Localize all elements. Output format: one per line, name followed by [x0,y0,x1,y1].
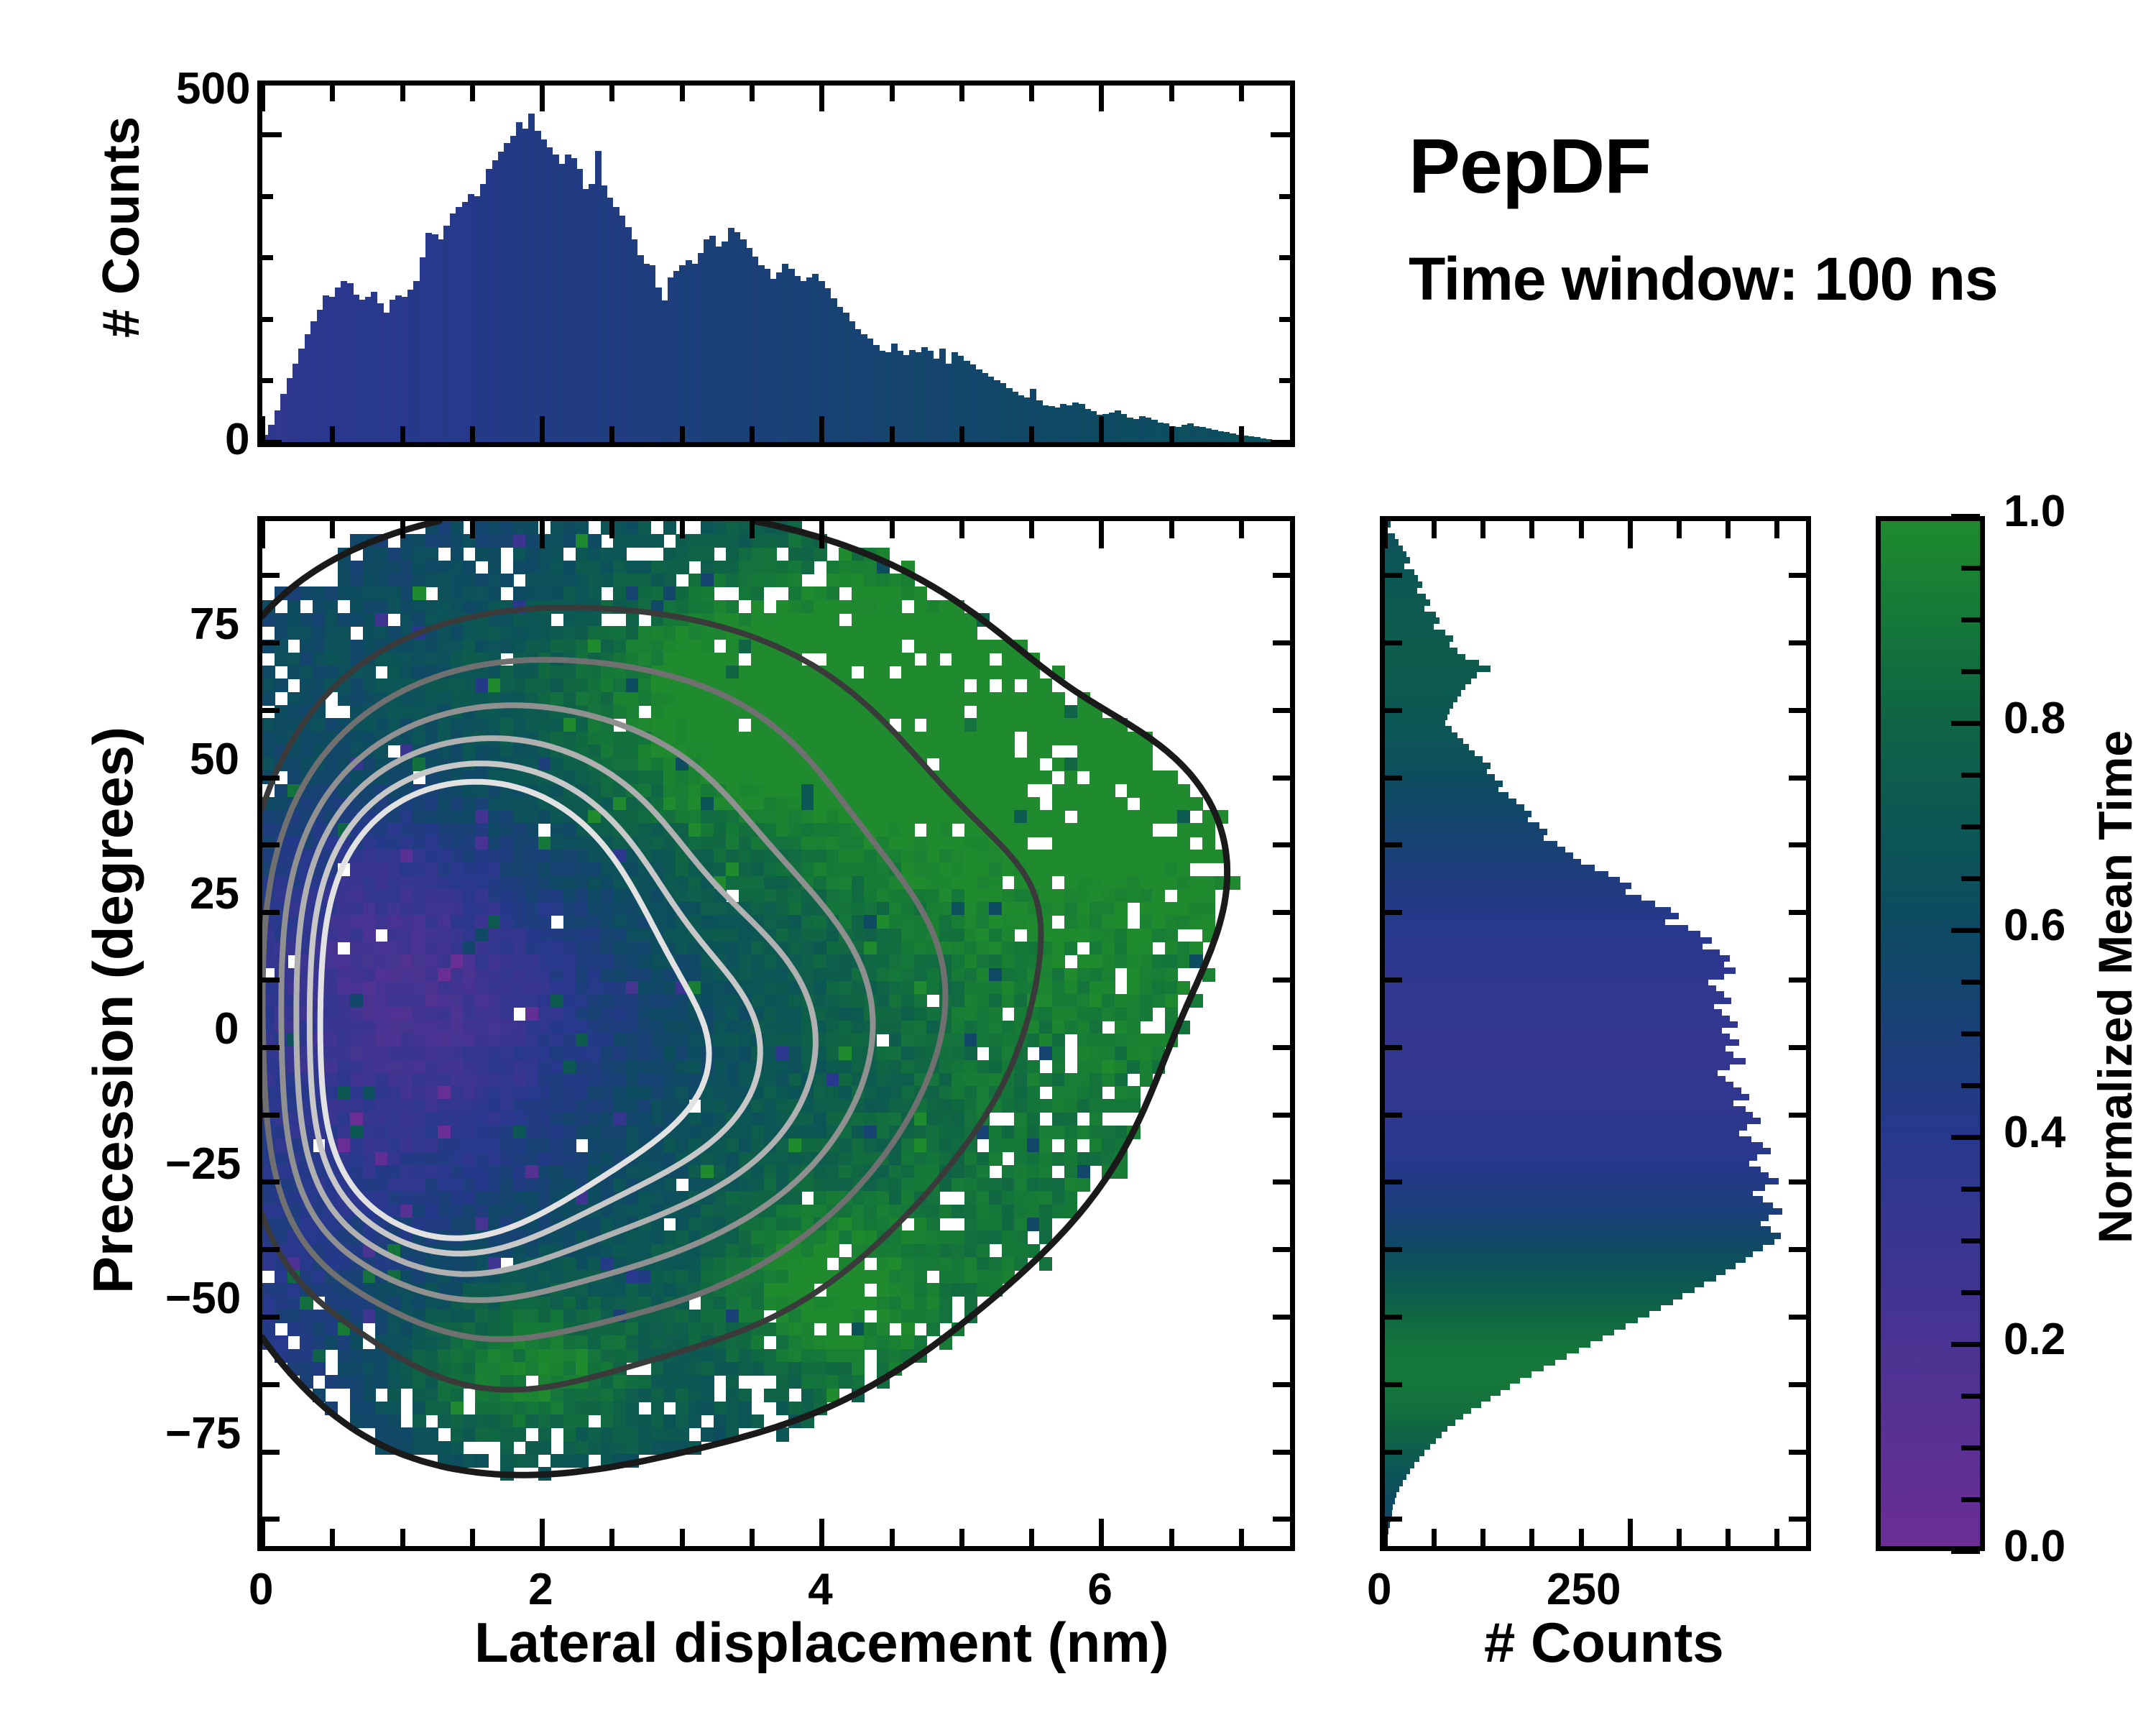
axis-tick [1169,521,1174,538]
axis-tick [1961,824,1980,829]
right-hist-xtick-250: 250 [1547,1564,1621,1615]
axis-tick [262,1179,280,1184]
axis-tick [609,521,614,538]
axis-tick [1432,1529,1437,1546]
main-xtick-label: 0 [249,1564,273,1615]
axis-tick [257,194,273,199]
axis-tick [1789,1113,1806,1118]
axis-tick [1385,1045,1402,1050]
axis-tick [1579,1529,1584,1546]
axis-tick [1273,1113,1290,1118]
top-histogram-bars [262,86,1290,442]
axis-tick [1385,640,1402,645]
right-histogram-bars [1385,521,1806,1546]
axis-tick [1789,1450,1806,1455]
axis-tick [260,86,265,111]
axis-tick [540,86,545,111]
axis-tick [1099,521,1104,548]
main-xtick-label: 4 [808,1564,832,1615]
axis-tick [1789,1179,1806,1184]
axis-tick [609,426,614,442]
axis-tick [1628,521,1633,548]
axis-tick [1628,1519,1633,1546]
axis-tick [1273,1247,1290,1252]
axis-tick [262,910,280,915]
axis-tick [1279,378,1295,383]
axis-tick [1961,617,1980,622]
axis-tick [1029,86,1034,101]
axis-tick [1951,721,1980,726]
axis-tick [262,573,280,578]
axis-tick [1961,1238,1980,1243]
axis-tick [1385,910,1402,915]
axis-tick [1385,573,1402,578]
axis-tick [609,1529,614,1546]
axis-tick [1273,708,1290,713]
axis-tick [1385,977,1402,983]
axis-tick [330,86,335,101]
axis-tick [1273,776,1290,781]
axis-tick [1385,1247,1402,1252]
axis-tick [1385,1179,1402,1184]
axis-tick [1385,1517,1402,1522]
axis-tick [262,776,280,781]
axis-tick [1239,1529,1244,1546]
figure-canvas: PepDF Time window: 100 ns # Counts 500 0… [0,0,2156,1725]
axis-tick [1099,86,1104,111]
axis-tick [890,1529,895,1546]
axis-tick [819,1519,824,1546]
axis-tick [1961,1445,1980,1450]
axis-tick [540,416,545,442]
axis-tick [1169,1529,1174,1546]
axis-tick [257,317,273,322]
axis-tick [1383,1519,1388,1546]
axis-tick [1789,776,1806,781]
axis-tick [1961,1290,1980,1295]
main-xtick-label: 6 [1087,1564,1112,1615]
axis-tick [1961,876,1980,881]
axis-tick [1029,521,1034,538]
axis-tick [1239,521,1244,538]
axis-tick [470,86,475,101]
axis-tick [1029,1529,1034,1546]
axis-tick [1385,708,1402,713]
axis-tick [1273,1517,1290,1522]
axis-tick [1385,1382,1402,1387]
axis-tick [1789,708,1806,713]
axis-tick [1273,910,1290,915]
axis-tick [262,842,280,847]
main-ytick-label: −25 [165,1138,241,1190]
axis-tick [1029,426,1034,442]
axis-tick [1432,521,1437,538]
axis-tick [1273,842,1290,847]
axis-tick [1774,521,1779,538]
axis-tick [1789,1315,1806,1320]
main-ytick-label: −50 [165,1273,241,1324]
colorbar-tick-label: 0.2 [2004,1314,2065,1365]
axis-tick [959,1529,964,1546]
axis-tick [262,708,280,713]
axis-tick [1789,977,1806,983]
colorbar-tick-label: 0.8 [2004,693,2065,744]
axis-tick [1961,1187,1980,1192]
axis-tick [1961,980,1980,985]
axis-tick [1273,1315,1290,1320]
axis-tick [680,86,685,101]
top-hist-ylabel: # Counts [92,116,151,338]
axis-tick [1961,1031,1980,1036]
axis-tick [260,521,265,548]
axis-tick [1279,194,1295,199]
axis-tick [680,426,685,442]
axis-tick [262,1247,280,1252]
main-ylabel: Precession (degrees) [80,727,146,1294]
axis-tick [750,1529,755,1546]
axis-tick [819,521,824,548]
axis-tick [1279,317,1295,322]
axis-tick [262,977,280,983]
axis-tick [1951,1549,1980,1554]
axis-tick [1529,521,1534,538]
axis-tick [1961,1394,1980,1399]
axis-tick [1789,573,1806,578]
axis-tick [400,521,405,538]
axis-tick [1480,1529,1485,1546]
subtitle-time-window: Time window: 100 ns [1409,244,1998,314]
axis-tick [470,521,475,538]
axis-tick [1951,514,1980,519]
axis-tick [1480,521,1485,538]
axis-tick [680,1529,685,1546]
axis-tick [1726,1529,1731,1546]
colorbar-label: Normalized Mean Time [2088,730,2142,1243]
axis-tick [1273,1382,1290,1387]
axis-tick [1726,521,1731,538]
axis-tick [1385,1315,1402,1320]
axis-tick [1239,86,1244,101]
axis-tick [1271,132,1295,137]
axis-tick [1279,255,1295,260]
main-ytick-label: 75 [190,599,239,650]
colorbar-tick-label: 0.0 [2004,1521,2065,1572]
axis-tick [890,426,895,442]
axis-tick [330,1529,335,1546]
axis-tick [1273,1179,1290,1184]
main-ytick-label: 25 [190,868,239,919]
axis-tick [260,416,265,442]
axis-tick [262,640,280,645]
main-xlabel: Lateral displacement (nm) [474,1610,1169,1675]
page-title: PepDF [1409,121,1651,211]
axis-tick [470,426,475,442]
top-hist-ytick-0: 0 [225,414,249,465]
axis-tick [1273,977,1290,983]
axis-tick [750,521,755,538]
axis-tick [1789,1247,1806,1252]
axis-tick [1951,928,1980,933]
axis-tick [1961,669,1980,674]
axis-tick [1961,1083,1980,1088]
density-contours [262,521,1290,1546]
axis-tick [959,426,964,442]
axis-tick [959,521,964,538]
axis-tick [260,1519,265,1546]
axis-tick [890,86,895,101]
axis-tick [1789,1045,1806,1050]
axis-tick [1239,426,1244,442]
axis-tick [1169,86,1174,101]
axis-tick [470,1529,475,1546]
axis-tick [1789,910,1806,915]
axis-tick [1273,1450,1290,1455]
axis-tick [1789,842,1806,847]
axis-tick [1385,842,1402,847]
axis-tick [1099,1519,1104,1546]
axis-tick [1789,1517,1806,1522]
axis-tick [257,255,273,260]
axis-tick [330,426,335,442]
right-hist-xlabel: # Counts [1484,1610,1724,1675]
contour-line [310,763,760,1253]
axis-tick [262,1382,280,1387]
axis-tick [1271,440,1295,445]
axis-tick [257,378,273,383]
axis-tick [1099,416,1104,442]
axis-tick [1273,1045,1290,1050]
axis-tick [959,86,964,101]
axis-tick [1961,1497,1980,1502]
axis-tick [1774,1529,1779,1546]
axis-tick [257,132,282,137]
main-ytick-label: 50 [190,734,239,785]
axis-tick [1951,1135,1980,1140]
axis-tick [1385,776,1402,781]
colorbar-tick-label: 0.4 [2004,1107,2065,1158]
axis-tick [1789,640,1806,645]
axis-tick [1677,1529,1682,1546]
axis-tick [1789,1382,1806,1387]
axis-tick [1385,1113,1402,1118]
axis-tick [1579,521,1584,538]
axis-tick [1273,640,1290,645]
main-ytick-label: −75 [165,1408,241,1459]
main-ytick-label: 0 [214,1003,239,1054]
axis-tick [1961,773,1980,778]
axis-tick [262,1045,280,1050]
axis-tick [540,521,545,548]
axis-tick [262,1517,280,1522]
axis-tick [540,1519,545,1546]
axis-tick [400,1529,405,1546]
axis-tick [1383,521,1388,548]
axis-tick [1961,566,1980,571]
axis-tick [890,521,895,538]
colorbar-tick-label: 0.6 [2004,900,2065,951]
axis-tick [1385,1450,1402,1455]
axis-tick [1951,1342,1980,1347]
main-xtick-label: 2 [528,1564,553,1615]
colorbar-tick-label: 1.0 [2004,486,2065,537]
axis-tick [1677,521,1682,538]
right-hist-xtick-0: 0 [1367,1564,1391,1615]
axis-tick [680,521,685,538]
axis-tick [819,86,824,111]
axis-tick [819,416,824,442]
axis-tick [330,521,335,538]
axis-tick [262,1315,280,1320]
axis-tick [750,86,755,101]
axis-tick [400,426,405,442]
axis-tick [609,86,614,101]
contour-line [321,782,709,1238]
axis-tick [1169,426,1174,442]
axis-tick [262,1450,280,1455]
axis-tick [1529,1529,1534,1546]
axis-tick [400,86,405,101]
axis-tick [1273,573,1290,578]
axis-tick [750,426,755,442]
top-hist-ytick-500: 500 [176,63,250,114]
axis-tick [262,1113,280,1118]
